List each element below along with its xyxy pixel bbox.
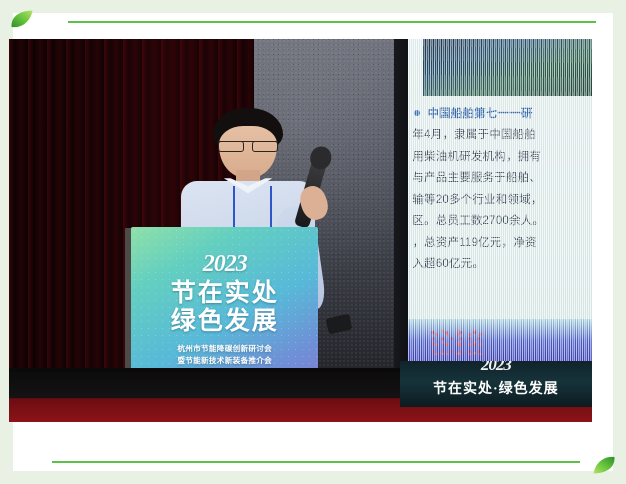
slide-footer-speckle [430, 329, 481, 355]
podium-title-line1: 节在实处 [171, 280, 279, 308]
glasses-icon [218, 141, 279, 151]
slide-line: 年4月，隶属于中国船舶 [412, 125, 592, 147]
slide-line: ，总资产119亿元，净资 [412, 233, 592, 255]
slide-text-block: 中国船舶第七一一研 年4月，隶属于中国船舶 用柴油机研发机构，拥有 与产品主要服… [408, 100, 592, 276]
podium-sign: 2023 节在实处 绿色发展 杭州市节能降碳创新研讨会 暨节能新技术新装备推介会 [131, 227, 318, 392]
slide-line: 区。总员工数2700余人。 [412, 211, 592, 233]
projection-screen: 中国船舶第七一一研 年4月，隶属于中国船舶 用柴油机研发机构，拥有 与产品主要服… [408, 39, 592, 376]
divider-bottom [52, 461, 580, 463]
page-root: 中国船舶第七一一研 年4月，隶属于中国船舶 用柴油机研发机构，拥有 与产品主要服… [0, 0, 626, 484]
leaf-icon [10, 9, 34, 29]
podium-year: 2023 [203, 252, 247, 276]
banner-year: 2023 [481, 361, 511, 375]
conference-photo: 中国船舶第七一一研 年4月，隶属于中国船舶 用柴油机研发机构，拥有 与产品主要服… [9, 39, 592, 422]
slide-bullet-line: 中国船舶第七一一研 [412, 104, 592, 126]
slide-line: 与产品主要服务于船舶、 [412, 168, 592, 190]
slide-header-image [423, 39, 592, 96]
slide-line: 入超60亿元。 [412, 254, 592, 276]
bullet-dot-icon [414, 110, 420, 116]
podium-subtitle-line1: 杭州市节能降碳创新研讨会 [177, 343, 272, 354]
leaf-icon [592, 455, 616, 475]
banner-text: 节在实处·绿色发展 [433, 378, 559, 398]
stage-front-banner: 2023 节在实处·绿色发展 [400, 361, 592, 407]
divider-top [68, 21, 596, 23]
slide-line: 输等20多个行业和领域， [412, 190, 592, 212]
podium-subtitle-line2: 暨节能新技术新装备推介会 [177, 355, 272, 366]
slide-line: 用柴油机研发机构，拥有 [412, 147, 592, 169]
podium-subtitle: 杭州市节能降碳创新研讨会 暨节能新技术新装备推介会 [177, 343, 272, 366]
podium-title-line2: 绿色发展 [171, 308, 279, 336]
